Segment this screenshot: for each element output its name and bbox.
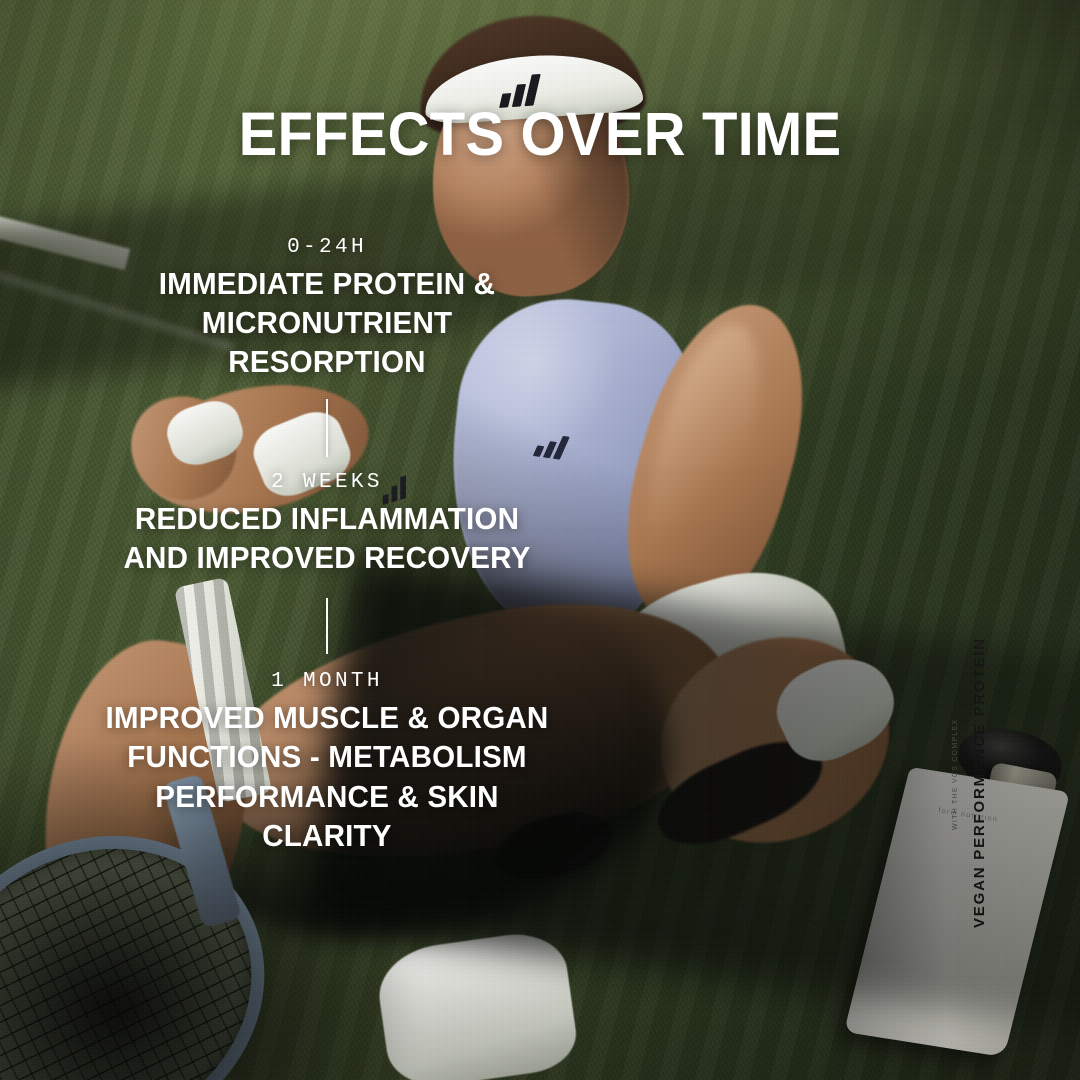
timeline-stage-0-24h: 0-24H IMMEDIATE PROTEIN & MICRONUTRIENT … [98,236,556,383]
stage-description: REDUCED INFLAMMATION AND IMPROVED RECOVE… [105,500,549,578]
stage-description: IMPROVED MUSCLE & ORGAN FUNCTIONS - META… [105,699,549,856]
stage-description: IMMEDIATE PROTEIN & MICRONUTRIENT RESORP… [105,265,549,383]
timeline-stage-2-weeks: 2 WEEKS REDUCED INFLAMMATION AND IMPROVE… [98,471,556,578]
timeline-divider [326,598,328,654]
page-title: EFFECTS OVER TIME [27,103,1053,165]
timeline-stage-1-month: 1 MONTH IMPROVED MUSCLE & ORGAN FUNCTION… [98,670,556,856]
stage-time-label: 0-24H [98,236,556,259]
stage-time-label: 2 WEEKS [98,471,556,494]
timeline-stage-list: 0-24H IMMEDIATE PROTEIN & MICRONUTRIENT … [98,236,556,856]
social-infographic-card: form nutrition WITH THE VCS COMPLEX VEGA… [0,0,1080,1080]
stage-time-label: 1 MONTH [98,670,556,693]
timeline-divider [326,399,328,457]
text-overlay: EFFECTS OVER TIME 0-24H IMMEDIATE PROTEI… [0,0,1080,1080]
